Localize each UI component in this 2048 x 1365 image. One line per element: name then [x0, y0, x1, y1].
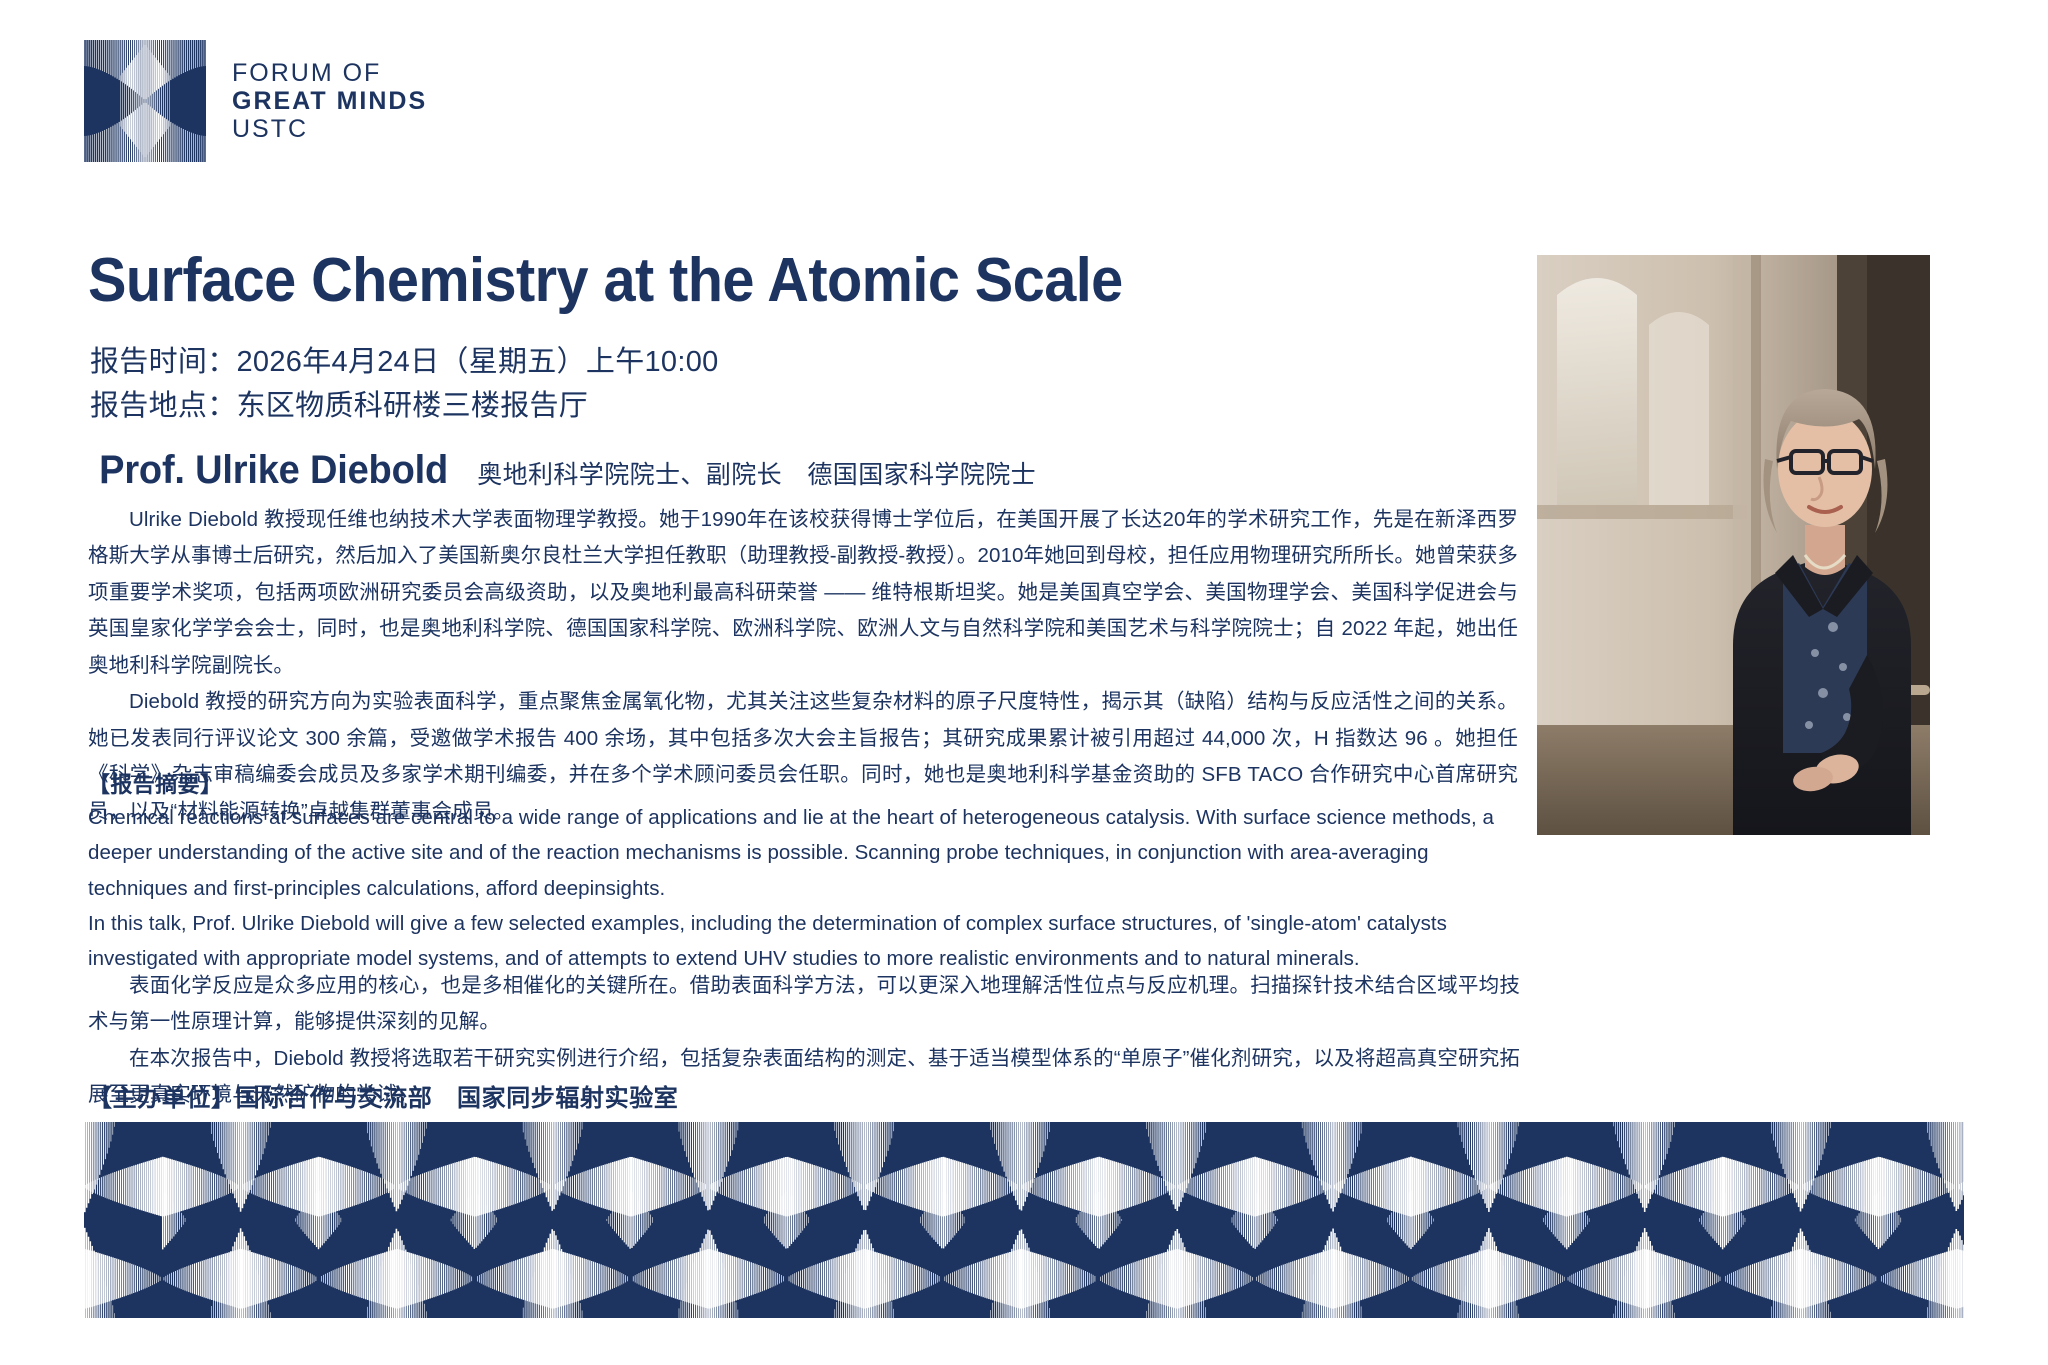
- abstract-en-paragraph: In this talk, Prof. Ulrike Diebold will …: [88, 906, 1520, 977]
- lecture-time: 报告时间：2026年4月24日（星期五）上午10:00: [90, 340, 1520, 384]
- abstract-english: Chemical reactions at surfaces are centr…: [88, 800, 1520, 976]
- brand-line-forum-of: FORUM OF: [232, 59, 427, 87]
- lecture-place: 报告地点：东区物质科研楼三楼报告厅: [90, 384, 1520, 428]
- speaker-block: Prof. Ulrike Diebold 奥地利科学院院士、副院长 德国国家科学…: [90, 448, 1520, 493]
- decorative-footer-band: [84, 1122, 1964, 1318]
- speaker-portrait-photo: [1537, 255, 1930, 835]
- lecture-meta: 报告时间：2026年4月24日（星期五）上午10:00 报告地点：东区物质科研楼…: [90, 340, 1520, 428]
- brand-wordmark: FORUM OF GREAT MINDS USTC: [232, 59, 427, 143]
- abstract-cn-paragraph: 表面化学反应是众多应用的核心，也是多相催化的关键所在。借助表面科学方法，可以更深…: [88, 968, 1520, 1041]
- ustc-forum-logo-icon: [84, 40, 206, 162]
- speaker-name: Prof. Ulrike Diebold: [99, 448, 448, 493]
- bio-paragraph: Ulrike Diebold 教授现任维也纳技术大学表面物理学教授。她于1990…: [88, 502, 1518, 684]
- abstract-en-paragraph: Chemical reactions at surfaces are centr…: [88, 800, 1520, 906]
- brand-line-great-minds: GREAT MINDS: [232, 87, 427, 115]
- speaker-credentials: 奥地利科学院院士、副院长 德国国家科学院院士: [477, 455, 1036, 491]
- poster-root: FORUM OF GREAT MINDS USTC Surface Chemis…: [0, 0, 2048, 1365]
- brand-header: FORUM OF GREAT MINDS USTC: [84, 40, 427, 162]
- lecture-title: Surface Chemistry at the Atomic Scale: [88, 248, 1409, 313]
- organizer-line: 【主办单位】国际合作与交流部 国家同步辐射实验室: [88, 1078, 678, 1113]
- abstract-heading: 【报告摘要】: [88, 767, 222, 799]
- speaker-bio: Ulrike Diebold 教授现任维也纳技术大学表面物理学教授。她于1990…: [88, 502, 1518, 830]
- brand-line-ustc: USTC: [232, 115, 427, 143]
